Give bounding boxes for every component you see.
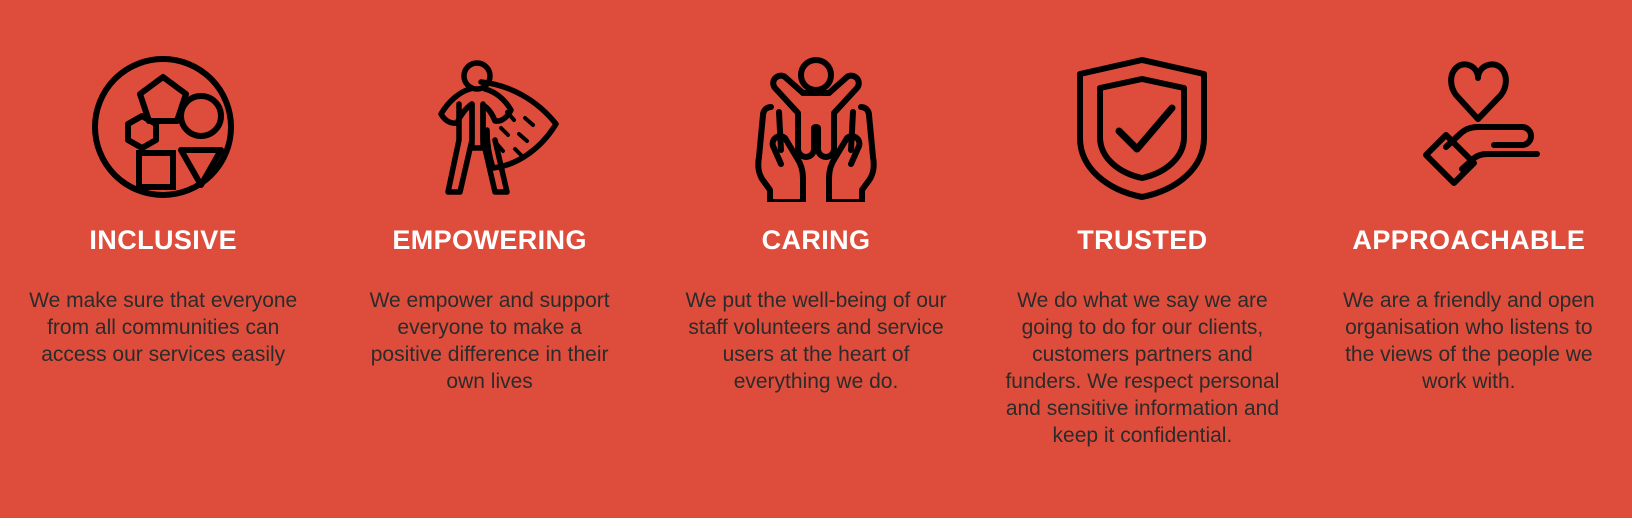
values-section: INCLUSIVE We make sure that everyone fro… bbox=[0, 0, 1632, 518]
values-grid: INCLUSIVE We make sure that everyone fro… bbox=[0, 0, 1632, 449]
value-description: We do what we say we are going to do for… bbox=[997, 287, 1287, 449]
value-title: EMPOWERING bbox=[392, 226, 587, 256]
value-card-empowering: EMPOWERING We empower and support everyo… bbox=[326, 52, 652, 449]
hand-holding-heart-icon bbox=[1394, 52, 1544, 202]
value-card-approachable: APPROACHABLE We are a friendly and open … bbox=[1306, 52, 1632, 449]
value-title: CARING bbox=[762, 226, 871, 256]
value-description: We make sure that everyone from all comm… bbox=[18, 287, 308, 368]
value-card-inclusive: INCLUSIVE We make sure that everyone fro… bbox=[0, 52, 326, 449]
value-description: We put the well-being of our staff volun… bbox=[678, 287, 954, 395]
value-card-caring: CARING We put the well-being of our staf… bbox=[653, 52, 979, 449]
bottom-white-strip bbox=[0, 518, 1632, 526]
value-card-trusted: TRUSTED We do what we say we are going t… bbox=[979, 52, 1305, 449]
hands-holding-person-icon bbox=[741, 52, 891, 202]
shield-check-icon bbox=[1067, 52, 1217, 202]
superhero-cape-icon bbox=[415, 52, 565, 202]
value-description: We empower and support everyone to make … bbox=[360, 287, 620, 395]
value-title: INCLUSIVE bbox=[89, 226, 237, 256]
shapes-in-circle-icon bbox=[88, 52, 238, 202]
value-title: TRUSTED bbox=[1077, 226, 1207, 256]
value-title: APPROACHABLE bbox=[1352, 226, 1585, 256]
value-description: We are a friendly and open organisation … bbox=[1339, 287, 1599, 395]
